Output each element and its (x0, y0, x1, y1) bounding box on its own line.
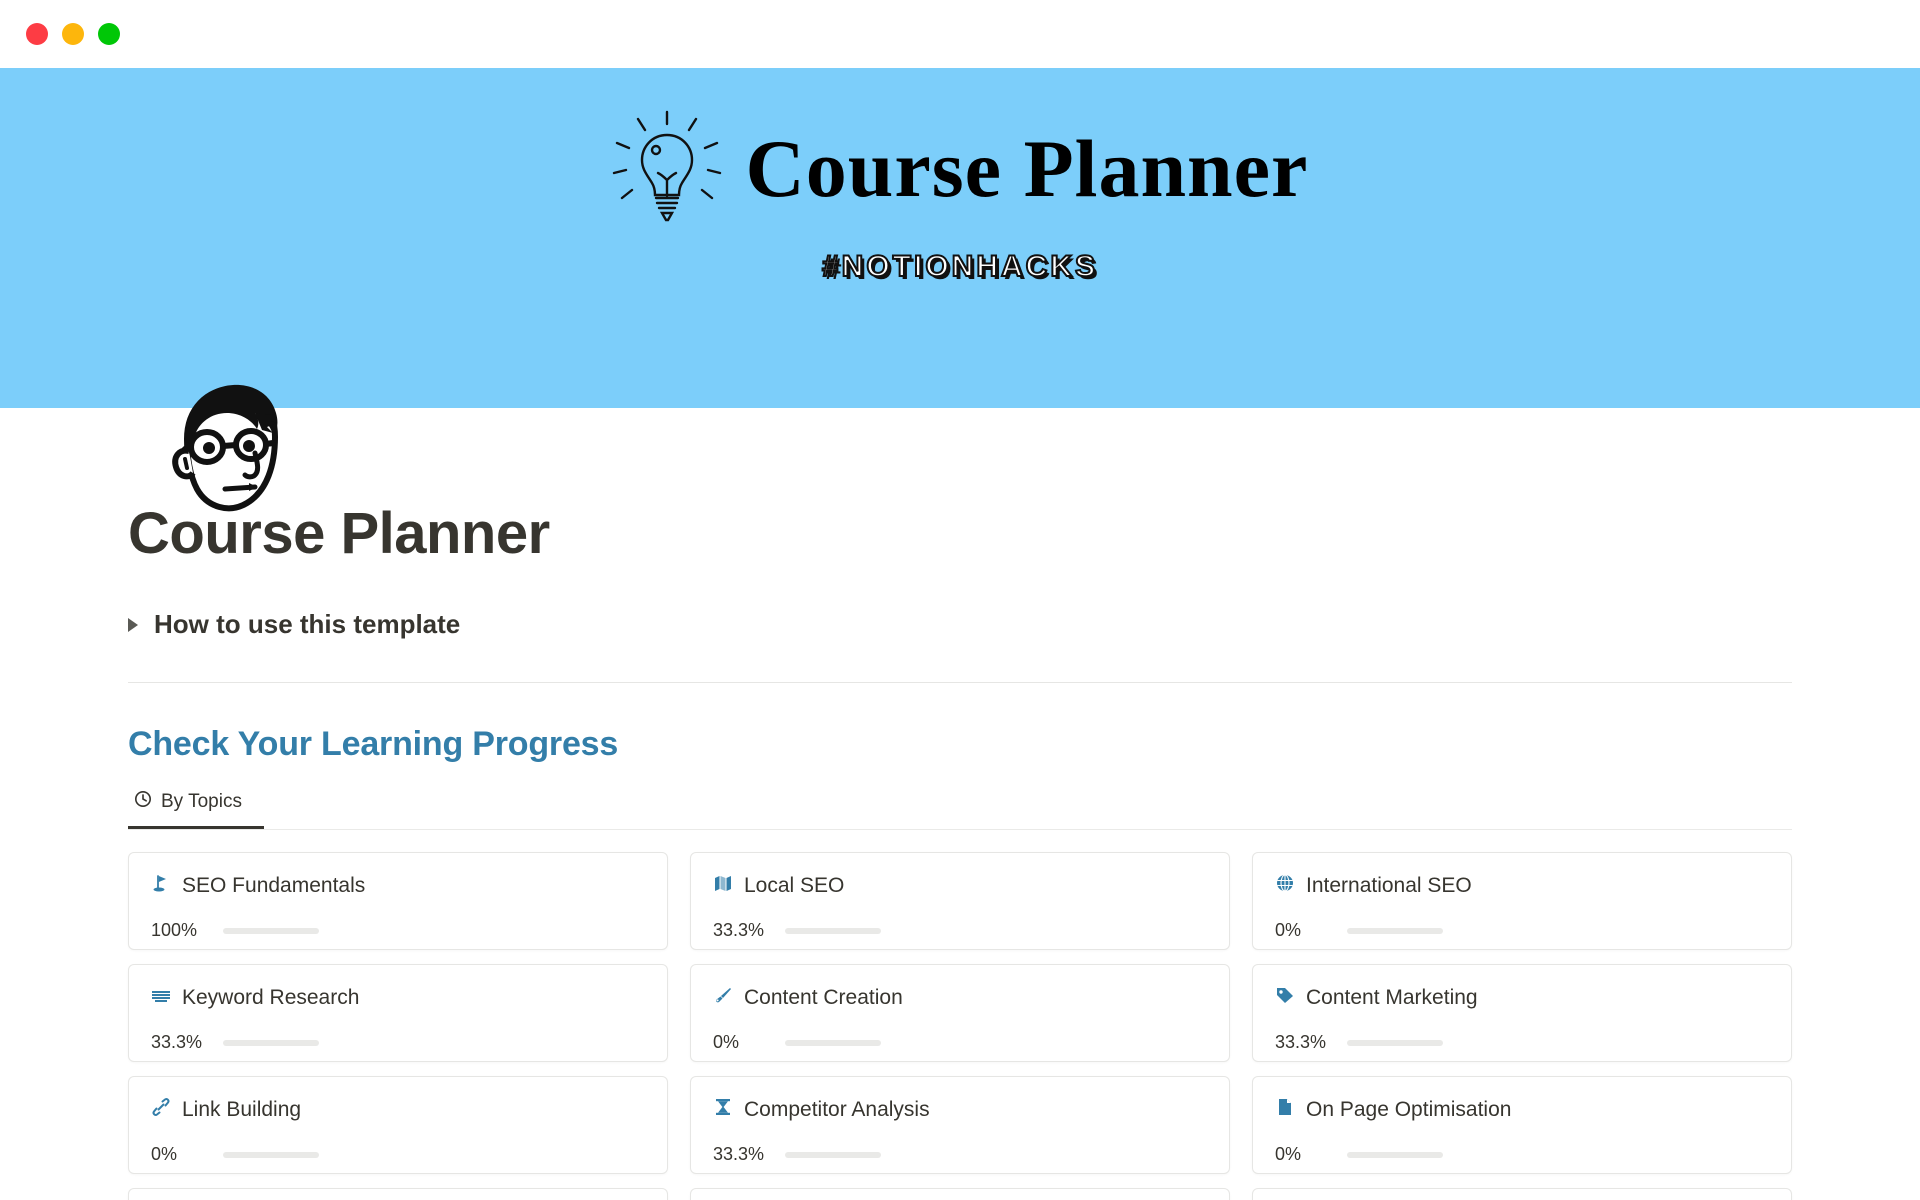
card-progress: 0% (1275, 920, 1769, 941)
card-header: SEO Fundamentals (151, 873, 645, 898)
section-title: Check Your Learning Progress (128, 725, 1792, 764)
card-progress: 33.3% (713, 1144, 1207, 1165)
card-progress: 33.3% (713, 920, 1207, 941)
card-header: Content Creation (713, 985, 1207, 1010)
progress-percent: 100% (151, 920, 209, 941)
card-header: On Page Optimisation (1275, 1097, 1769, 1122)
card-progress: 0% (1275, 1144, 1769, 1165)
progress-percent: 33.3% (713, 920, 771, 941)
card-title: Keyword Research (182, 986, 359, 1010)
lightbulb-icon (612, 110, 722, 228)
toggle-label: How to use this template (154, 609, 460, 640)
triangle-right-icon[interactable] (128, 618, 138, 632)
maximize-button[interactable] (98, 23, 120, 45)
card-progress: 0% (151, 1144, 645, 1165)
card-progress: 0% (713, 1032, 1207, 1053)
topic-card[interactable]: International SEO 0% (1252, 852, 1792, 950)
card-title: SEO Fundamentals (182, 874, 365, 898)
page-title: Course Planner (128, 500, 1792, 567)
window-titlebar (0, 0, 1920, 68)
progress-bar-track (785, 1152, 881, 1158)
card-progress: 100% (151, 920, 645, 941)
progress-bar-track (1347, 1152, 1443, 1158)
progress-bar-track (785, 1040, 881, 1046)
paintbrush-icon (713, 985, 733, 1010)
keyboard-icon (151, 985, 171, 1010)
card-title: Content Creation (744, 986, 903, 1010)
card-title: Local SEO (744, 874, 844, 898)
progress-percent: 33.3% (713, 1144, 771, 1165)
progress-bar-track (223, 1152, 319, 1158)
hourglass-icon (713, 1097, 733, 1122)
clock-icon (134, 790, 152, 814)
page-cover-banner: Course Planner #NOTIONHACKS (0, 68, 1920, 408)
progress-percent: 0% (713, 1032, 771, 1053)
page-icon (1275, 1097, 1295, 1122)
tab-label: By Topics (161, 791, 242, 813)
topic-card[interactable]: Keyword Research 33.3% (128, 964, 668, 1062)
topic-card[interactable]: Competitor Analysis 33.3% (690, 1076, 1230, 1174)
progress-percent: 0% (1275, 920, 1333, 941)
topic-card[interactable]: Content Marketing 33.3% (1252, 964, 1792, 1062)
card-header: International SEO (1275, 873, 1769, 898)
card-title: International SEO (1306, 874, 1472, 898)
map-icon (713, 873, 733, 898)
card-header: Content Marketing (1275, 985, 1769, 1010)
card-title: Content Marketing (1306, 986, 1478, 1010)
page-content: Course Planner How to use this template … (0, 500, 1920, 1200)
card-title: Competitor Analysis (744, 1098, 930, 1122)
card-progress: 33.3% (151, 1032, 645, 1053)
card-title: Link Building (182, 1098, 301, 1122)
banner-logo-row: Course Planner (612, 110, 1309, 228)
card-header: Link Building (151, 1097, 645, 1122)
toggle-how-to-use[interactable]: How to use this template (128, 609, 1792, 640)
minimize-button[interactable] (62, 23, 84, 45)
banner-subtitle: #NOTIONHACKS (822, 250, 1098, 284)
progress-bar-track (223, 1040, 319, 1046)
topic-card[interactable]: SEO Fundamentals 100% (128, 852, 668, 950)
page-icon-avatar[interactable] (163, 373, 287, 523)
topic-cards-grid: SEO Fundamentals 100% Local SEO (128, 852, 1792, 1200)
database-tabs: By Topics (128, 786, 1792, 830)
topic-card[interactable] (1252, 1188, 1792, 1200)
progress-bar-track (785, 928, 881, 934)
progress-bar-track (1347, 928, 1443, 934)
avatar-face-icon (163, 373, 287, 523)
card-header: Competitor Analysis (713, 1097, 1207, 1122)
topic-card[interactable]: Content Creation 0% (690, 964, 1230, 1062)
golf-flag-icon (151, 873, 171, 898)
card-header: Local SEO (713, 873, 1207, 898)
progress-bar-track (1347, 1040, 1443, 1046)
progress-percent: 33.3% (151, 1032, 209, 1053)
topic-card[interactable]: Link Building 0% (128, 1076, 668, 1174)
card-progress: 33.3% (1275, 1032, 1769, 1053)
tab-by-topics[interactable]: By Topics (128, 786, 264, 829)
progress-bar-track (223, 928, 319, 934)
progress-percent: 0% (1275, 1144, 1333, 1165)
card-title: On Page Optimisation (1306, 1098, 1511, 1122)
banner-title: Course Planner (746, 128, 1309, 210)
link-icon (151, 1097, 171, 1122)
tag-icon (1275, 985, 1295, 1010)
globe-icon (1275, 873, 1295, 898)
section-divider (128, 682, 1792, 683)
topic-card[interactable]: Local SEO 33.3% (690, 852, 1230, 950)
topic-card[interactable]: On Page Optimisation 0% (1252, 1076, 1792, 1174)
topic-card[interactable] (690, 1188, 1230, 1200)
progress-percent: 33.3% (1275, 1032, 1333, 1053)
topic-card[interactable] (128, 1188, 668, 1200)
progress-percent: 0% (151, 1144, 209, 1165)
close-button[interactable] (26, 23, 48, 45)
card-header: Keyword Research (151, 985, 645, 1010)
